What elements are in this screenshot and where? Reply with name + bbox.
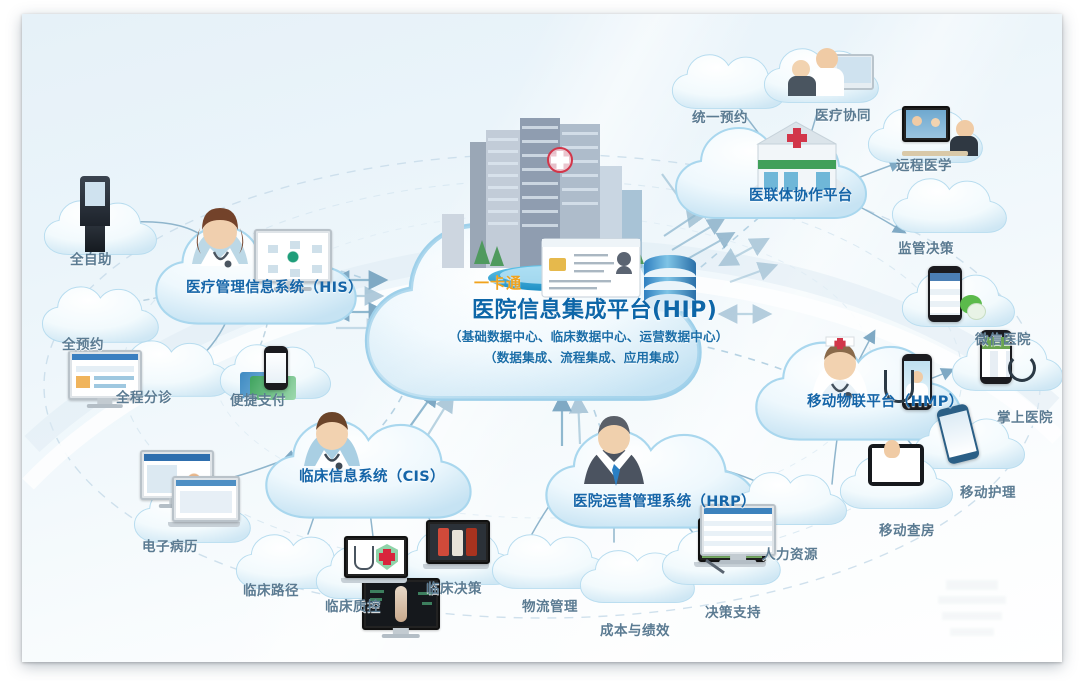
node-label-wechat-hospital: 微信医院	[975, 334, 1031, 348]
node-label-quality-control: 临床质控	[325, 601, 381, 615]
video-conference-icon	[902, 106, 974, 156]
platform-label-cis: 临床信息系统（CIS）	[299, 470, 445, 485]
node-label-human-resources: 人力资源	[762, 549, 818, 563]
node-label-clinical-decision: 临床决策	[426, 583, 482, 597]
node-label-cost-performance: 成本与绩效	[600, 625, 670, 639]
kiosk-terminal-icon	[80, 176, 110, 250]
platform-label-hrp: 医院运营管理系统（HRP）	[573, 495, 756, 510]
one-card-badge: 一卡通	[474, 276, 522, 291]
diagram-page: $	[22, 14, 1062, 662]
node-label-mobile-nursing: 移动护理	[960, 487, 1016, 501]
network-topology-screen-icon	[254, 229, 332, 283]
tablet-hand-icon	[868, 444, 924, 490]
node-label-decision-support: 决策支持	[705, 607, 761, 621]
node-label-supervision: 监管决策	[898, 243, 954, 257]
stethoscope-shield-laptop-icon	[344, 536, 410, 580]
consultation-people-icon	[790, 42, 874, 96]
wechat-phone-icon	[928, 266, 986, 322]
node-label-easy-payment: 便捷支付	[230, 395, 286, 409]
mobile-handheld-icon	[942, 406, 982, 464]
platform-label-hmp: 移动物联平台（HMP）	[807, 395, 964, 410]
node-label-triage: 全程分诊	[116, 392, 172, 406]
node-label-unified-booking: 统一预约	[692, 112, 748, 126]
node-label-palm-hospital: 掌上医院	[997, 412, 1053, 426]
hip-subtitle-2: （数据集成、流程集成、应用集成）	[484, 352, 687, 365]
node-label-mobile-rounds: 移动查房	[879, 525, 935, 539]
platform-label-alliance: 医联体协作平台	[749, 189, 853, 204]
laptop-record-icon	[172, 476, 244, 524]
node-label-logistics: 物流管理	[522, 601, 578, 615]
smart-card-icon	[542, 239, 640, 297]
hip-title: 医院信息集成平台(HIP)	[472, 300, 717, 322]
phone-card-payment-icon	[236, 346, 302, 398]
watermark	[928, 570, 1016, 656]
node-label-medical-collab: 医疗协同	[815, 110, 871, 124]
hip-subtitle-1: （基础数据中心、临床数据中心、运营数据中心）	[449, 331, 728, 344]
binder-files-laptop-icon	[426, 520, 492, 566]
node-label-emr: 电子病历	[142, 541, 198, 555]
node-label-telemedicine: 远程医学	[896, 160, 952, 174]
node-label-self-service: 全自助	[70, 254, 112, 268]
platform-label-his: 医疗管理信息系统（HIS）	[186, 281, 363, 296]
diagram-canvas: $	[0, 0, 1080, 681]
node-label-clinical-pathway: 临床路径	[243, 585, 299, 599]
node-label-appointment-all: 全预约	[62, 339, 104, 353]
